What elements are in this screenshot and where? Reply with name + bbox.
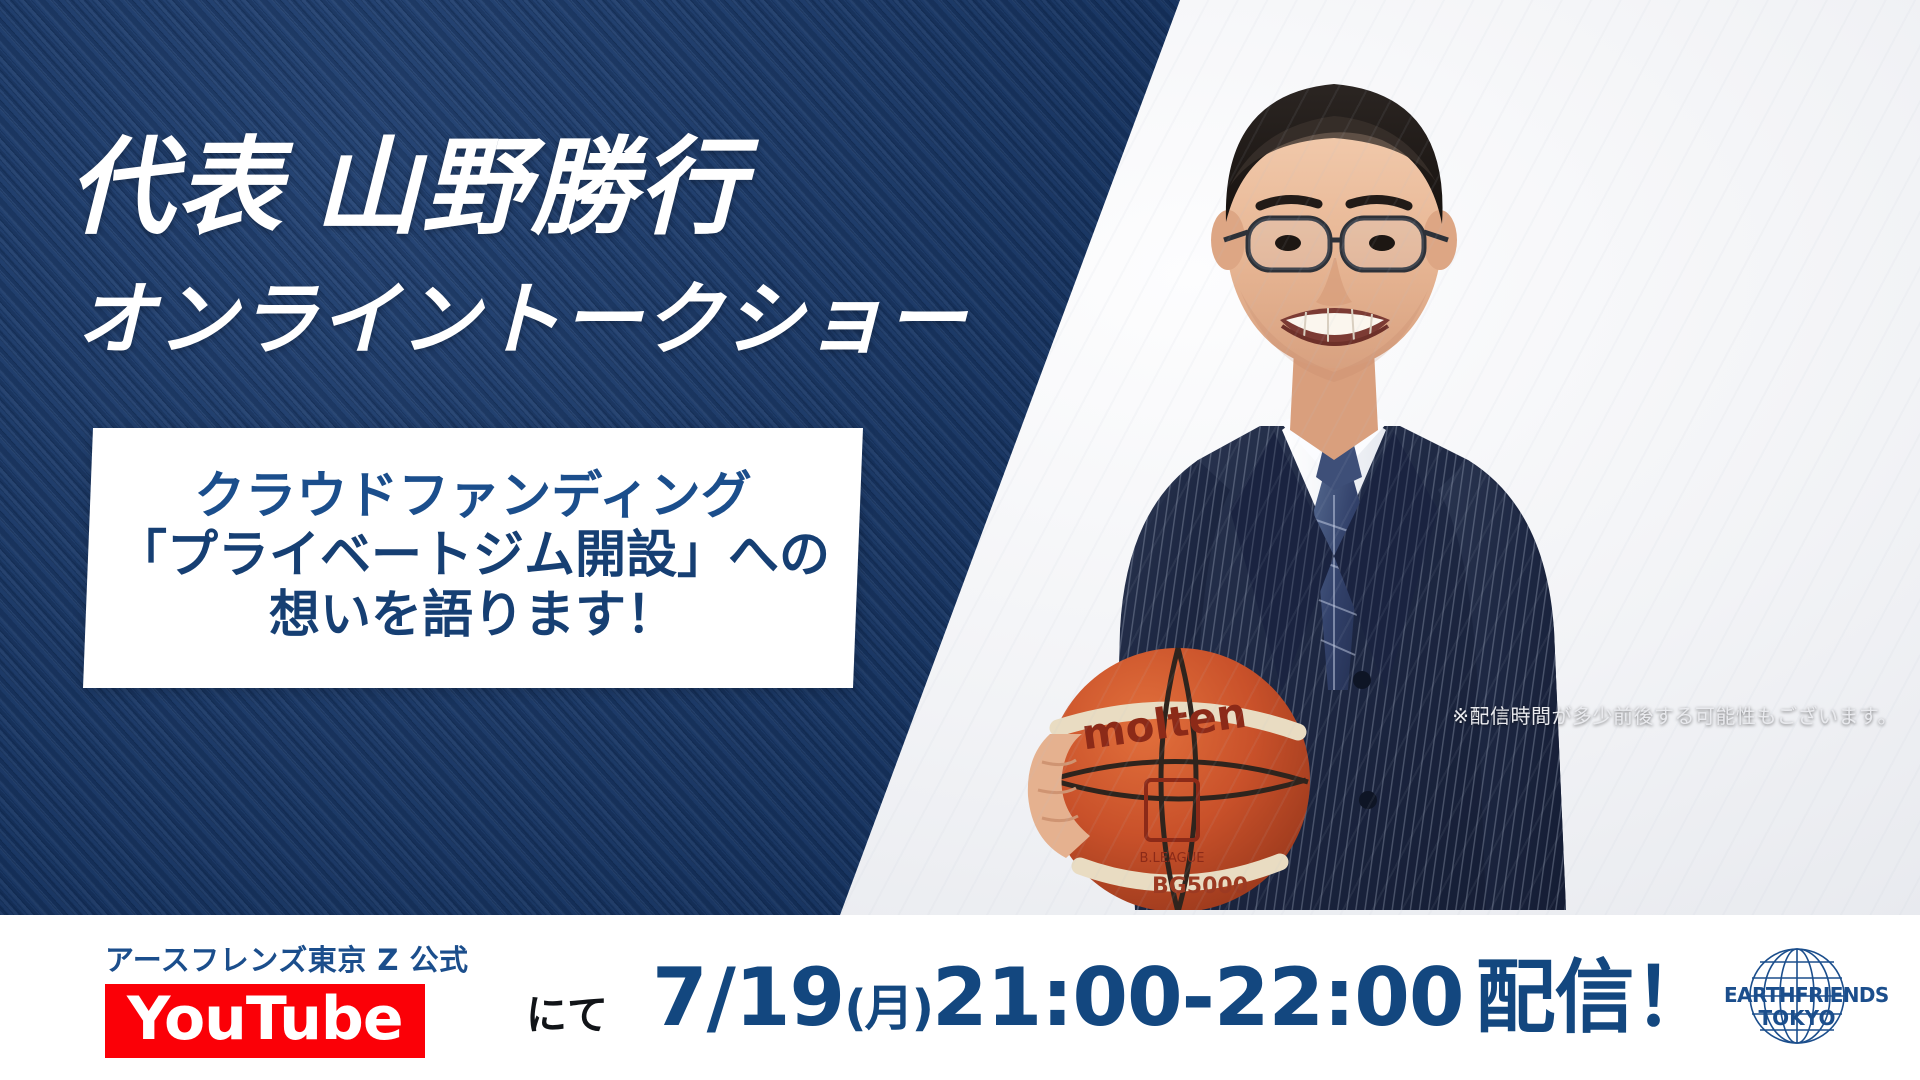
broadcast-label: 配信！ — [1476, 958, 1713, 1038]
title-role: 代表 — [68, 126, 284, 249]
official-channel-label: アースフレンズ東京 Z 公式 — [105, 937, 500, 979]
broadcast-day-of-week: (月) — [844, 984, 932, 1033]
callout-line-3: 想いを語ります！ — [269, 586, 677, 646]
svg-text:molten: molten — [1079, 688, 1250, 760]
club-logo: EARTHFRIENDS TOKYO — [1724, 938, 1870, 1058]
platform-group: アースフレンズ東京 Z 公式 YouTube — [105, 937, 500, 1058]
callout-box: クラウドファンディング 「プライベートジム開設」への 想いを語ります！ — [83, 428, 863, 688]
club-logo-line-1: EARTHFRIENDS — [1724, 983, 1870, 1007]
broadcast-time-disclaimer: ※配信時間が多少前後する可能性もございます。 — [1452, 700, 1898, 729]
promo-banner: molten B.LEAGUE BG5000 ※配信時間が多少前後する可能性もご… — [0, 0, 1920, 1080]
title-name: 山野勝行 — [314, 126, 746, 249]
bottom-info-bar: アースフレンズ東京 Z 公式 YouTube にて 7/19 (月) 21:00… — [0, 915, 1920, 1080]
svg-text:BG5000: BG5000 — [1152, 874, 1248, 899]
callout-line-1: クラウドファンディング — [194, 467, 751, 527]
connector-label: にて — [526, 981, 608, 1041]
page-title: 代表山野勝行 — [68, 135, 746, 241]
youtube-badge[interactable]: YouTube — [105, 984, 425, 1058]
schedule-line: 7/19 (月) 21:00-22:00 配信！ — [652, 958, 1713, 1038]
youtube-badge-label: YouTube — [127, 984, 403, 1054]
club-logo-line-2: TOKYO — [1724, 1006, 1870, 1030]
broadcast-time-range: 21:00-22:00 — [932, 958, 1464, 1038]
subtitle: オンライントークショー — [76, 280, 967, 360]
svg-text:B.LEAGUE: B.LEAGUE — [1140, 851, 1205, 866]
broadcast-date: 7/19 — [652, 958, 844, 1038]
callout-line-2: 「プライベートジム開設」への — [116, 526, 830, 586]
